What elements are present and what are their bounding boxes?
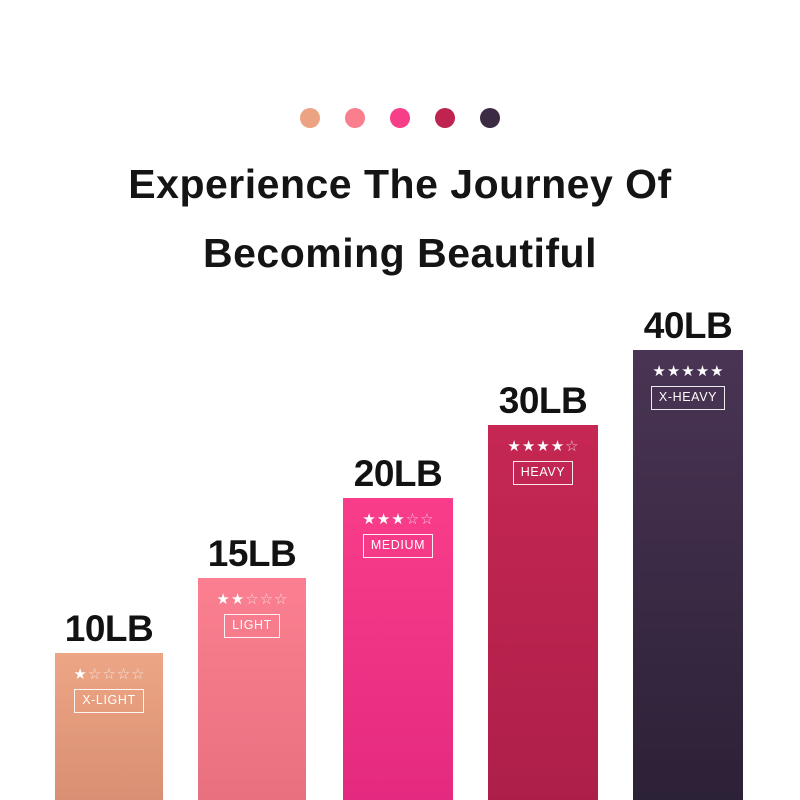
star-filled-icon: ★ [667, 364, 680, 379]
bar-column-medium[interactable]: 20LB★★★☆☆MEDIUM [343, 498, 453, 800]
star-outline-icon: ☆ [260, 592, 273, 607]
bar-chart: 10LB★☆☆☆☆X-LIGHT15LB★★☆☆☆LIGHT20LB★★★☆☆M… [0, 290, 800, 800]
star-rating: ★★★☆☆ [362, 512, 433, 527]
star-outline-icon: ☆ [274, 592, 287, 607]
headline-line-1: Experience The Journey Of [0, 150, 800, 219]
bar-content: ★★★☆☆MEDIUM [343, 512, 453, 558]
star-outline-icon: ☆ [420, 512, 433, 527]
dot-x-heavy [480, 108, 500, 128]
level-badge: X-HEAVY [651, 386, 725, 410]
bar-column-light[interactable]: 15LB★★☆☆☆LIGHT [198, 578, 306, 800]
star-outline-icon: ☆ [117, 667, 130, 682]
star-filled-icon: ★ [681, 364, 694, 379]
level-badge: LIGHT [224, 614, 280, 638]
star-filled-icon: ★ [216, 592, 229, 607]
bar-body: ★★★★★X-HEAVY [633, 350, 743, 800]
star-filled-icon: ★ [536, 439, 549, 454]
bar-body: ★★★★☆HEAVY [488, 425, 598, 800]
star-filled-icon: ★ [522, 439, 535, 454]
bar-body: ★★☆☆☆LIGHT [198, 578, 306, 800]
bar-content: ★★☆☆☆LIGHT [198, 592, 306, 638]
star-filled-icon: ★ [696, 364, 709, 379]
bar-column-heavy[interactable]: 30LB★★★★☆HEAVY [488, 425, 598, 800]
star-filled-icon: ★ [652, 364, 665, 379]
star-rating: ★★★★★ [652, 364, 723, 379]
star-rating: ★★★★☆ [507, 439, 578, 454]
star-outline-icon: ☆ [245, 592, 258, 607]
dot-light [345, 108, 365, 128]
star-filled-icon: ★ [377, 512, 390, 527]
bar-column-x-light[interactable]: 10LB★☆☆☆☆X-LIGHT [55, 653, 163, 800]
star-filled-icon: ★ [507, 439, 520, 454]
dot-heavy [435, 108, 455, 128]
star-outline-icon: ☆ [406, 512, 419, 527]
level-badge: X-LIGHT [74, 689, 144, 713]
star-filled-icon: ★ [231, 592, 244, 607]
dot-medium [390, 108, 410, 128]
star-filled-icon: ★ [710, 364, 723, 379]
star-filled-icon: ★ [391, 512, 404, 527]
resistance-band-infographic: Experience The Journey Of Becoming Beaut… [0, 0, 800, 800]
star-outline-icon: ☆ [88, 667, 101, 682]
star-filled-icon: ★ [73, 667, 86, 682]
bar-weight-label: 40LB [633, 306, 743, 346]
bar-column-x-heavy[interactable]: 40LB★★★★★X-HEAVY [633, 350, 743, 800]
star-outline-icon: ☆ [565, 439, 578, 454]
bar-weight-label: 20LB [343, 454, 453, 494]
bar-content: ★★★★★X-HEAVY [633, 364, 743, 410]
bar-body: ★☆☆☆☆X-LIGHT [55, 653, 163, 800]
level-badge: HEAVY [513, 461, 573, 485]
star-rating: ★☆☆☆☆ [73, 667, 144, 682]
bar-weight-label: 15LB [198, 534, 306, 574]
bar-weight-label: 30LB [488, 381, 598, 421]
star-outline-icon: ☆ [102, 667, 115, 682]
star-filled-icon: ★ [362, 512, 375, 527]
star-filled-icon: ★ [551, 439, 564, 454]
page-title: Experience The Journey Of Becoming Beaut… [0, 150, 800, 288]
level-badge: MEDIUM [363, 534, 433, 558]
star-outline-icon: ☆ [131, 667, 144, 682]
color-swatch-dots [0, 108, 800, 128]
headline-line-2: Becoming Beautiful [0, 219, 800, 288]
star-rating: ★★☆☆☆ [216, 592, 287, 607]
bar-body: ★★★☆☆MEDIUM [343, 498, 453, 800]
bar-content: ★☆☆☆☆X-LIGHT [55, 667, 163, 713]
dot-x-light [300, 108, 320, 128]
bar-content: ★★★★☆HEAVY [488, 439, 598, 485]
bar-weight-label: 10LB [55, 609, 163, 649]
